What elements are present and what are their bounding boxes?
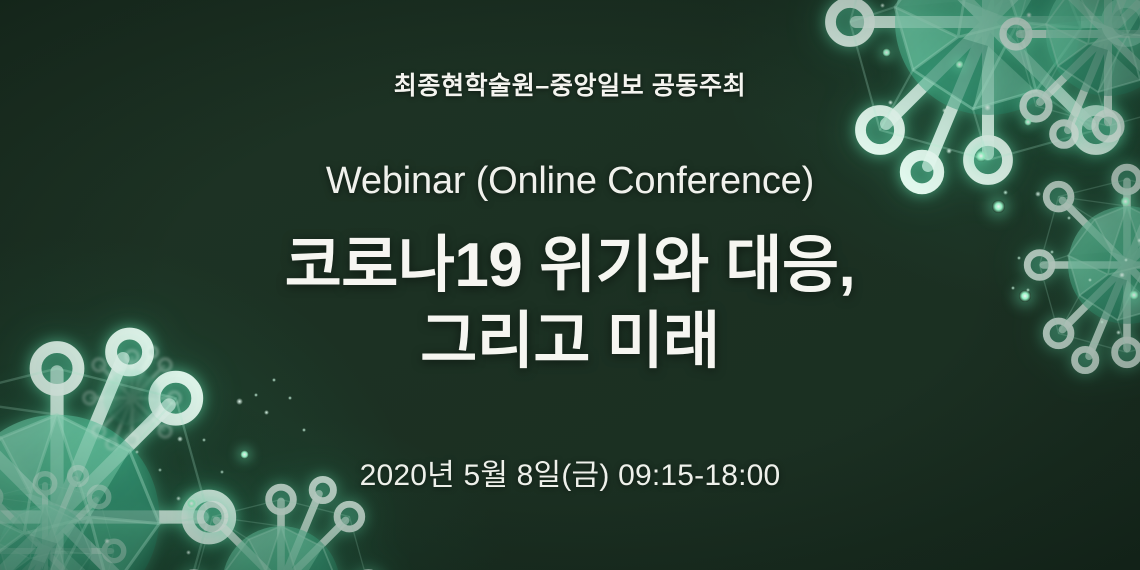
virus-bottom-center-icon bbox=[186, 490, 376, 570]
organizer-line: 최종현학술원–중앙일보 공동주최 bbox=[0, 66, 1140, 102]
event-datetime: 2020년 5월 8일(금) 09:15-18:00 bbox=[0, 450, 1140, 494]
webinar-banner: 최종현학술원–중앙일보 공동주최 Webinar (Online Confere… bbox=[0, 0, 1140, 570]
headline-line-2: 그리고 미래 bbox=[0, 304, 1140, 380]
page-title: 코로나19 위기와 대응, 그리고 미래 bbox=[0, 228, 1140, 381]
event-format-subtitle: Webinar (Online Conference) bbox=[0, 160, 1140, 203]
headline-line-1: 코로나19 위기와 대응, bbox=[0, 228, 1140, 304]
